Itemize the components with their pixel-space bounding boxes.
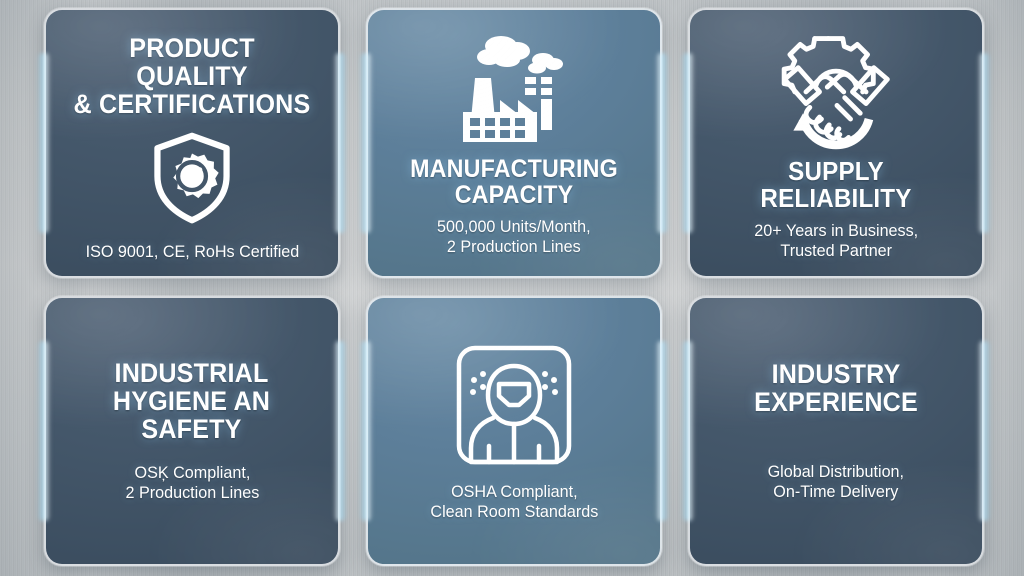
card-title: INDUSTRY EXPERIENCE <box>754 360 918 416</box>
card-right-edge-glow <box>977 53 991 234</box>
card-product-quality[interactable]: PRODUCT QUALITY & CERTIFICATIONS ISO 900… <box>44 8 340 278</box>
card-title-line-1: INDUSTRIAL <box>113 359 270 387</box>
card-subtitle: 500,000 Units/Month, 2 Production Lines <box>437 217 591 256</box>
card-subtitle: 20+ Years in Business, Trusted Partner <box>754 221 918 260</box>
card-right-edge-glow <box>333 53 347 234</box>
card-left-edge-glow <box>359 53 373 234</box>
card-title-line-3: SAFETY <box>113 415 270 443</box>
ppe-worker-icon <box>449 340 579 470</box>
card-subtitle: ISO 9001, CE, RoHs Certified <box>85 242 299 262</box>
card-supply-reliability[interactable]: SUPPLY RELIABILITY 20+ Years in Business… <box>688 8 984 278</box>
card-manufacturing-capacity[interactable]: MANUFACTURING CAPACITY 500,000 Units/Mon… <box>366 8 662 278</box>
card-right-edge-glow <box>977 341 991 522</box>
card-title: SUPPLY RELIABILITY <box>715 158 957 212</box>
card-subtitle: Global Distribution, On-Time Delivery <box>768 462 904 501</box>
card-subtitle: OSĶ Compliant, 2 Production Lines <box>125 463 259 502</box>
card-right-edge-glow <box>655 53 669 234</box>
shield-gear-check-icon <box>144 130 240 226</box>
capability-card-grid: PRODUCT QUALITY & CERTIFICATIONS ISO 900… <box>0 0 1024 576</box>
card-subtitle-line-1: OSHA Compliant, <box>430 482 598 502</box>
factory-icon <box>455 30 573 150</box>
card-subtitle-line-1: ISO 9001, CE, RoHs Certified <box>85 242 299 262</box>
card-subtitle-line-1: 500,000 Units/Month, <box>437 217 591 237</box>
card-right-edge-glow <box>655 341 669 522</box>
card-title-line-2: HYGIENE AN <box>113 387 270 415</box>
card-title-line-1: MANUFACTURING CAPACITY <box>393 156 635 208</box>
handshake-gear-icon <box>773 26 899 152</box>
card-subtitle-line-2: Clean Room Standards <box>430 502 598 522</box>
card-subtitle-line-2: 2 Production Lines <box>437 237 591 257</box>
card-subtitle-line-1: OSĶ Compliant, <box>125 463 259 483</box>
card-title: PRODUCT QUALITY & CERTIFICATIONS <box>71 34 313 118</box>
card-industry-experience[interactable]: INDUSTRY EXPERIENCE Global Distribution,… <box>688 296 984 566</box>
card-industrial-hygiene-safety[interactable]: INDUSTRIAL HYGIENE AN SAFETY OSĶ Complia… <box>44 296 340 566</box>
card-subtitle-line-2: On-Time Delivery <box>768 482 904 502</box>
card-left-edge-glow <box>681 53 695 234</box>
card-title-line-2: EXPERIENCE <box>754 388 918 416</box>
card-subtitle-line-2: 2 Production Lines <box>125 483 259 503</box>
card-clean-room[interactable]: OSHA Compliant, Clean Room Standards <box>366 296 662 566</box>
card-left-edge-glow <box>681 341 695 522</box>
card-title-line-1: PRODUCT QUALITY <box>71 34 313 90</box>
card-subtitle-line-1: Global Distribution, <box>768 462 904 482</box>
card-subtitle: OSHA Compliant, Clean Room Standards <box>430 482 598 521</box>
card-title-line-2: & CERTIFICATIONS <box>71 90 313 118</box>
card-left-edge-glow <box>37 341 51 522</box>
card-subtitle-line-2: Trusted Partner <box>754 241 918 261</box>
card-left-edge-glow <box>37 53 51 234</box>
card-title-line-1: INDUSTRY <box>754 360 918 388</box>
card-title: INDUSTRIAL HYGIENE AN SAFETY <box>113 359 270 443</box>
card-left-edge-glow <box>359 341 373 522</box>
card-title-line-1: SUPPLY RELIABILITY <box>715 158 957 212</box>
card-right-edge-glow <box>333 341 347 522</box>
card-title: MANUFACTURING CAPACITY <box>393 156 635 208</box>
card-subtitle-line-1: 20+ Years in Business, <box>754 221 918 241</box>
